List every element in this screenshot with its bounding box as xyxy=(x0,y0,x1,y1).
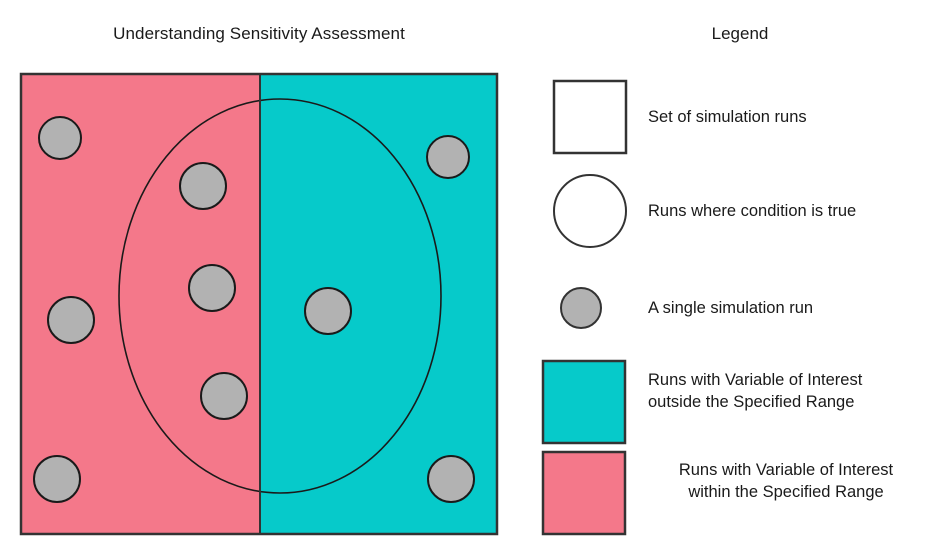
simulation-run-dot xyxy=(189,265,235,311)
simulation-run-dot xyxy=(34,456,80,502)
simulation-run-dot xyxy=(39,117,81,159)
simulation-run-dot xyxy=(201,373,247,419)
legend-label-set-of-simulation-runs: Set of simulation runs xyxy=(648,106,807,128)
legend-label-runs-within-specified-range: Runs with Variable of Interest within th… xyxy=(648,459,924,503)
legend-label-a-single-simulation-run: A single simulation run xyxy=(648,297,813,319)
legend-square-pink-icon xyxy=(543,452,625,534)
legend-label-line-2: within the Specified Range xyxy=(648,481,924,503)
diagram-canvas: Understanding Sensitivity Assessment Leg… xyxy=(0,0,936,554)
legend-circle-filled-icon xyxy=(561,288,601,328)
simulation-run-dot xyxy=(428,456,474,502)
legend-label-line-1: Runs with Variable of Interest xyxy=(648,369,924,391)
legend-label-line-2: outside the Specified Range xyxy=(648,391,924,413)
simulation-run-dot xyxy=(427,136,469,178)
simulation-run-dot xyxy=(180,163,226,209)
simulation-run-dot xyxy=(305,288,351,334)
legend-label-line-1: Runs with Variable of Interest xyxy=(648,459,924,481)
legend-circle-outline-icon xyxy=(554,175,626,247)
simulation-run-dot xyxy=(48,297,94,343)
legend-square-outline-icon xyxy=(554,81,626,153)
legend-glyphs xyxy=(543,81,626,534)
legend-label-runs-where-condition-is-true: Runs where condition is true xyxy=(648,200,856,222)
legend-square-teal-icon xyxy=(543,361,625,443)
legend-label-runs-outside-specified-range: Runs with Variable of Interest outside t… xyxy=(648,369,924,413)
